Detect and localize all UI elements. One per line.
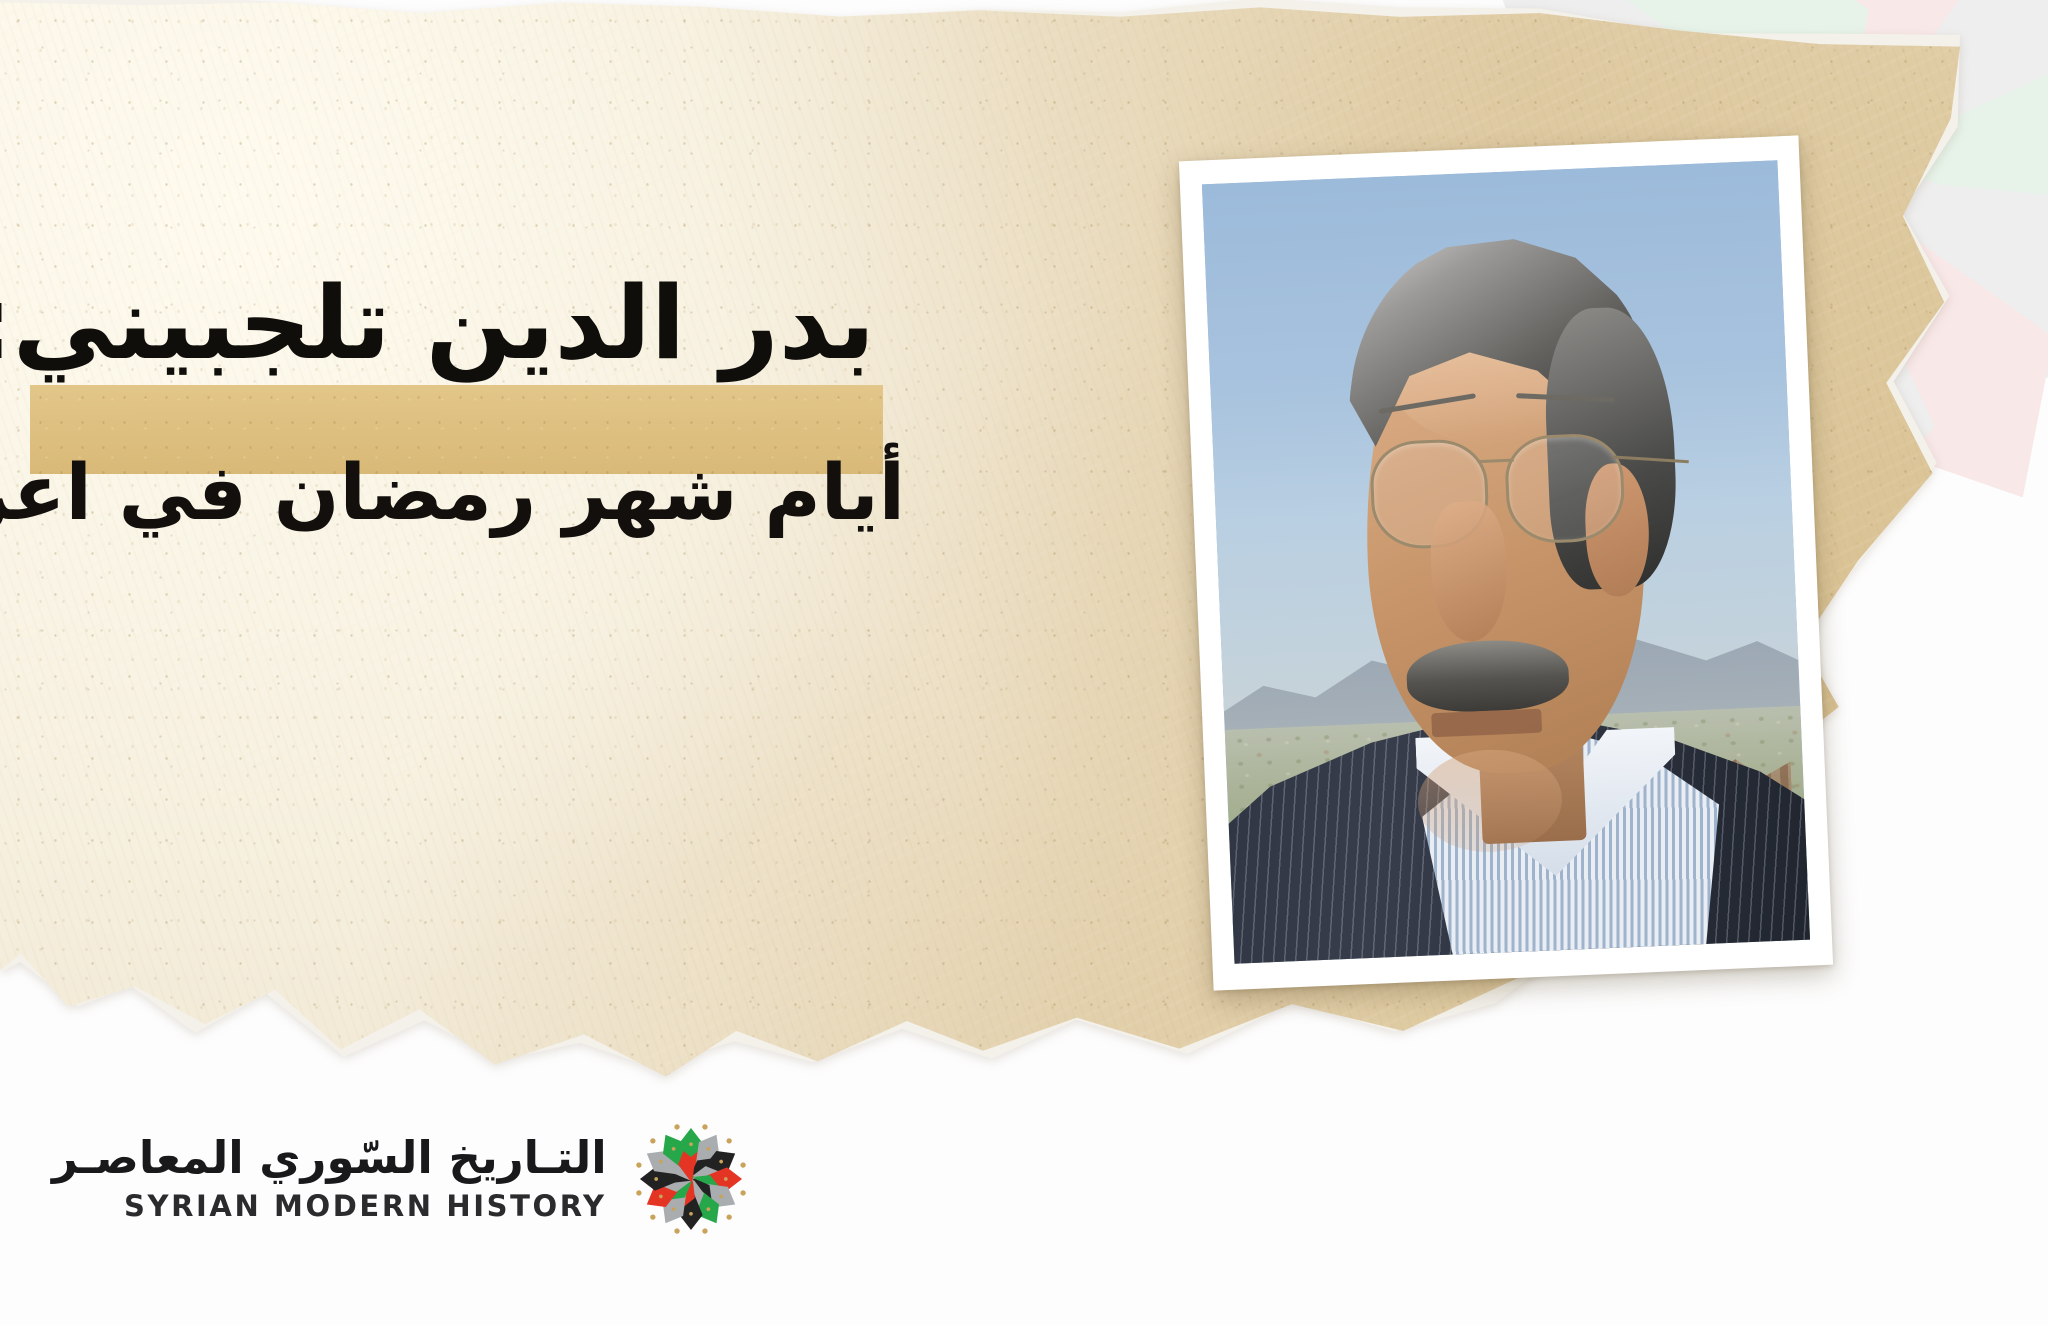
subject-mouth [1432, 709, 1542, 737]
page-title: بدر الدين تلجبيني: [0, 262, 905, 385]
page-subtitle: أيام شهر رمضان في اعزاز [0, 447, 905, 541]
headline-block: بدر الدين تلجبيني: أيام شهر رمضان في اعز… [0, 262, 905, 541]
brand-logo[interactable]: التـاريخ السّوري المعاصـر SYRIAN MODERN … [52, 1121, 749, 1237]
eyeglass-lens-right [1504, 432, 1626, 544]
poster-canvas: بدر الدين تلجبيني: أيام شهر رمضان في اعز… [0, 0, 2048, 1325]
photo-subject-figure [1202, 160, 1810, 963]
page-title-text: بدر الدين تلجبيني: [0, 264, 875, 382]
portrait-photo [1202, 160, 1810, 963]
rosette-logo-icon [633, 1121, 749, 1237]
portrait-photo-card [1179, 135, 1833, 990]
brand-name-arabic: التـاريخ السّوري المعاصـر [52, 1134, 607, 1181]
brand-text: التـاريخ السّوري المعاصـر SYRIAN MODERN … [52, 1134, 607, 1224]
brand-name-english: SYRIAN MODERN HISTORY [124, 1190, 607, 1223]
